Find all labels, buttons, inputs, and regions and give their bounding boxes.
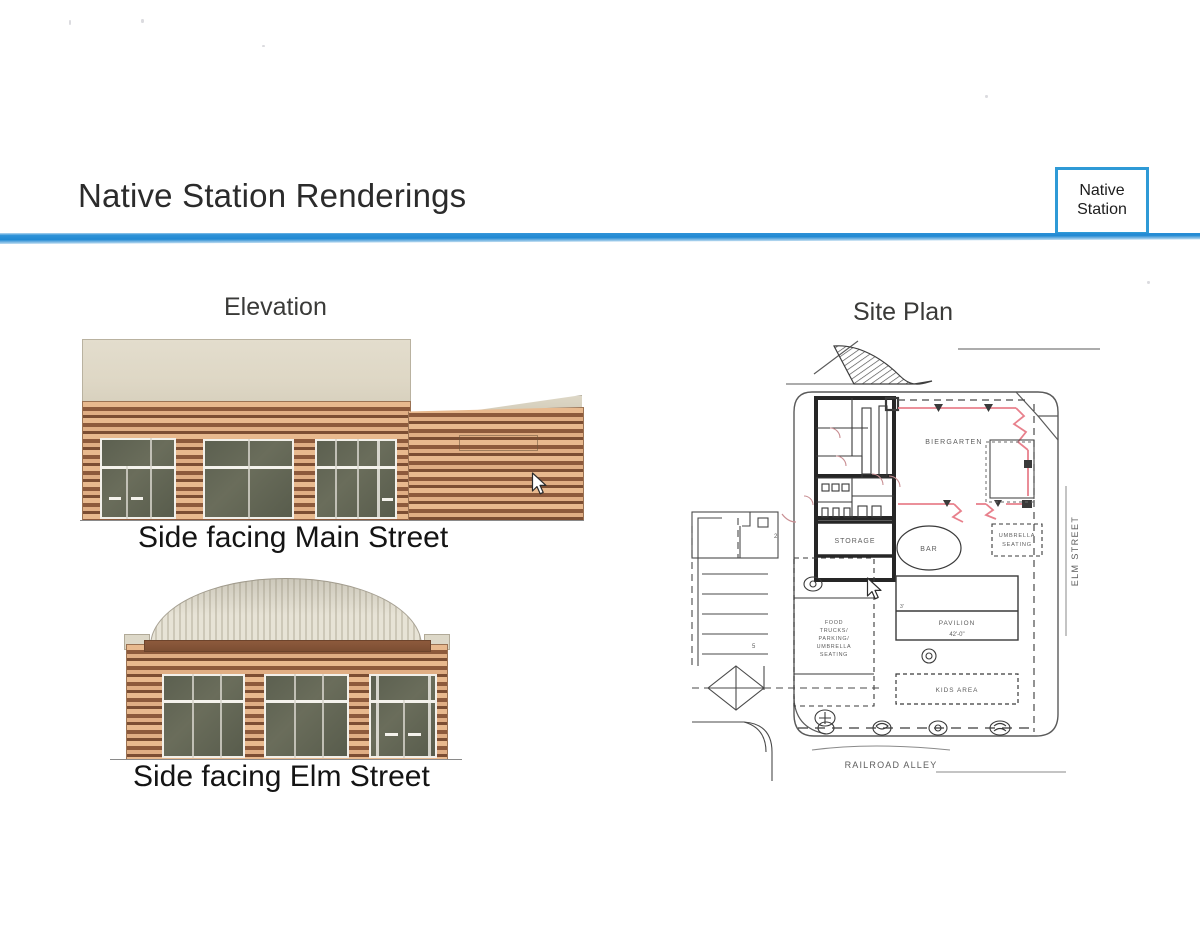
storefront-mullion (335, 439, 337, 519)
storefront-mullion (126, 466, 128, 519)
label-food-trucks-5: SEATING (820, 652, 848, 658)
site-plan-heading: Site Plan (853, 298, 953, 327)
door-pull (408, 733, 421, 736)
label-food-trucks-4: UMBRELLA (817, 644, 852, 650)
elevation-heading: Elevation (224, 293, 327, 322)
label-pavilion-dimension: 42'-0" (949, 632, 964, 638)
title-divider (0, 233, 1200, 244)
scan-speck (69, 20, 71, 25)
label-kids-area: KIDS AREA (936, 687, 979, 694)
barrel-vault-roof (150, 578, 422, 647)
entry-door-jamb (376, 674, 379, 758)
storefront-mullion (294, 674, 296, 758)
storefront-glazing-bay-1 (100, 438, 176, 519)
elevation-rendering-main-street (72, 339, 588, 521)
label-umbrella-seating-2: SEATING (1002, 542, 1032, 548)
storefront-mullion (100, 466, 176, 469)
parapet-wall (82, 339, 411, 409)
entry-door-jamb (377, 439, 380, 519)
storefront-mullion (162, 700, 245, 703)
scan-speck (141, 19, 144, 23)
storefront-mullion (357, 439, 359, 519)
door-pull (109, 497, 121, 500)
label-food-trucks-2: TRUCKS/ (820, 628, 849, 634)
storefront-mullion (220, 674, 222, 758)
label-umbrella-seating-1: UMBRELLA (999, 533, 1036, 539)
storefront-mullion (403, 700, 405, 758)
entry-door-jamb (428, 674, 431, 758)
site-plan-drawing: STORAGE BIERGARTEN BAR UMBRELLA SEATING (686, 336, 1106, 781)
storefront-mullion (322, 674, 324, 758)
label-food-trucks-3: PARKING/ (819, 636, 850, 642)
title-divider-bar (0, 233, 1200, 244)
label-elm-street: ELM STREET (1070, 516, 1080, 587)
pavilion-tick-label: 3' (900, 604, 904, 610)
label-stall-count-2: 5 (752, 644, 756, 650)
logo-line-1: Native (1079, 182, 1124, 201)
storefront-glazing-bay-2 (264, 674, 349, 758)
storefront-mullion (248, 439, 250, 519)
scan-speck (1147, 281, 1150, 284)
logo-line-2: Station (1077, 201, 1127, 220)
storefront-glazing-bay-1 (162, 674, 245, 758)
label-biergarten: BIERGARTEN (925, 439, 982, 446)
label-bar: BAR (920, 546, 937, 553)
scan-speck (262, 45, 265, 47)
door-pull (385, 733, 398, 736)
door-pull (382, 498, 393, 501)
brick-facade-wing (408, 407, 584, 521)
scan-speck (985, 95, 988, 98)
label-food-trucks-1: FOOD (825, 620, 843, 626)
caption-elm-street: Side facing Elm Street (133, 760, 430, 794)
wing-signage-outline (459, 435, 538, 451)
storefront-mullion (150, 438, 152, 519)
elevation-rendering-elm-street (104, 578, 466, 760)
label-storage: STORAGE (834, 538, 875, 545)
label-stall-count-1: 2 (774, 534, 778, 540)
label-pavilion: PAVILION (939, 620, 976, 627)
page-title: Native Station Renderings (78, 177, 466, 215)
storefront-mullion (315, 466, 397, 469)
native-station-logo: Native Station (1055, 167, 1149, 235)
storefront-mullion (192, 674, 194, 758)
caption-main-street: Side facing Main Street (138, 521, 448, 555)
storefront-glazing-bay-3 (315, 439, 397, 519)
facade-parapet-band (144, 640, 431, 652)
label-railroad-alley: RAILROAD ALLEY (845, 760, 938, 770)
door-pull (131, 497, 143, 500)
storefront-mullion (264, 700, 349, 703)
